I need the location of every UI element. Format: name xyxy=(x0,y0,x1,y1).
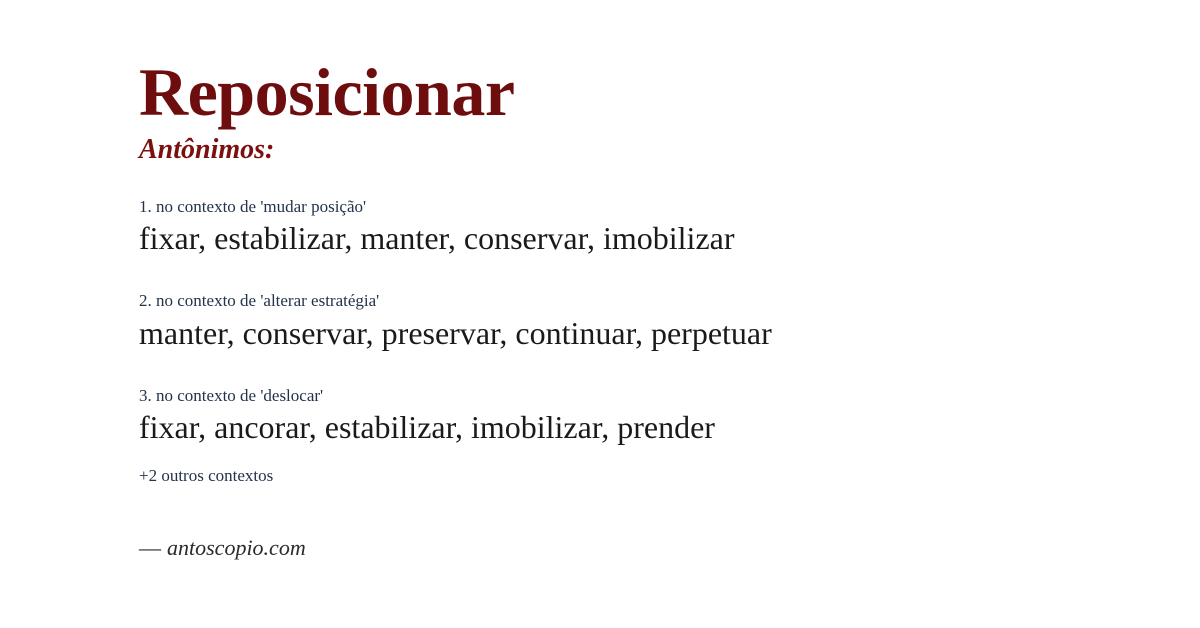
more-contexts-label: +2 outros contextos xyxy=(139,465,273,486)
em-dash: — xyxy=(139,535,161,560)
attribution: —antoscopio.com xyxy=(139,535,306,561)
sense-context-label: 2. no contexto de 'alterar estratégia' xyxy=(139,290,1159,311)
sense-context-label: 1. no contexto de 'mudar posição' xyxy=(139,196,1159,217)
sense-words: fixar, ancorar, estabilizar, imobilizar,… xyxy=(139,408,1159,447)
attribution-source: antoscopio.com xyxy=(167,535,306,560)
sense-context-label: 3. no contexto de 'deslocar' xyxy=(139,385,1159,406)
sense-list: 1. no contexto de 'mudar posição' fixar,… xyxy=(139,196,1159,447)
sense-entry: 2. no contexto de 'alterar estratégia' m… xyxy=(139,290,1159,352)
relation-type-label: Antônimos: xyxy=(139,136,1139,164)
card-header: Reposicionar Antônimos: xyxy=(139,58,1139,164)
sense-entry: 1. no contexto de 'mudar posição' fixar,… xyxy=(139,196,1159,258)
sense-words: fixar, estabilizar, manter, conservar, i… xyxy=(139,219,1159,258)
page-title: Reposicionar xyxy=(139,58,1139,126)
sense-entry: 3. no contexto de 'deslocar' fixar, anco… xyxy=(139,385,1159,447)
sense-words: manter, conservar, preservar, continuar,… xyxy=(139,314,1159,353)
thesaurus-card: Reposicionar Antônimos: 1. no contexto d… xyxy=(0,0,1200,628)
